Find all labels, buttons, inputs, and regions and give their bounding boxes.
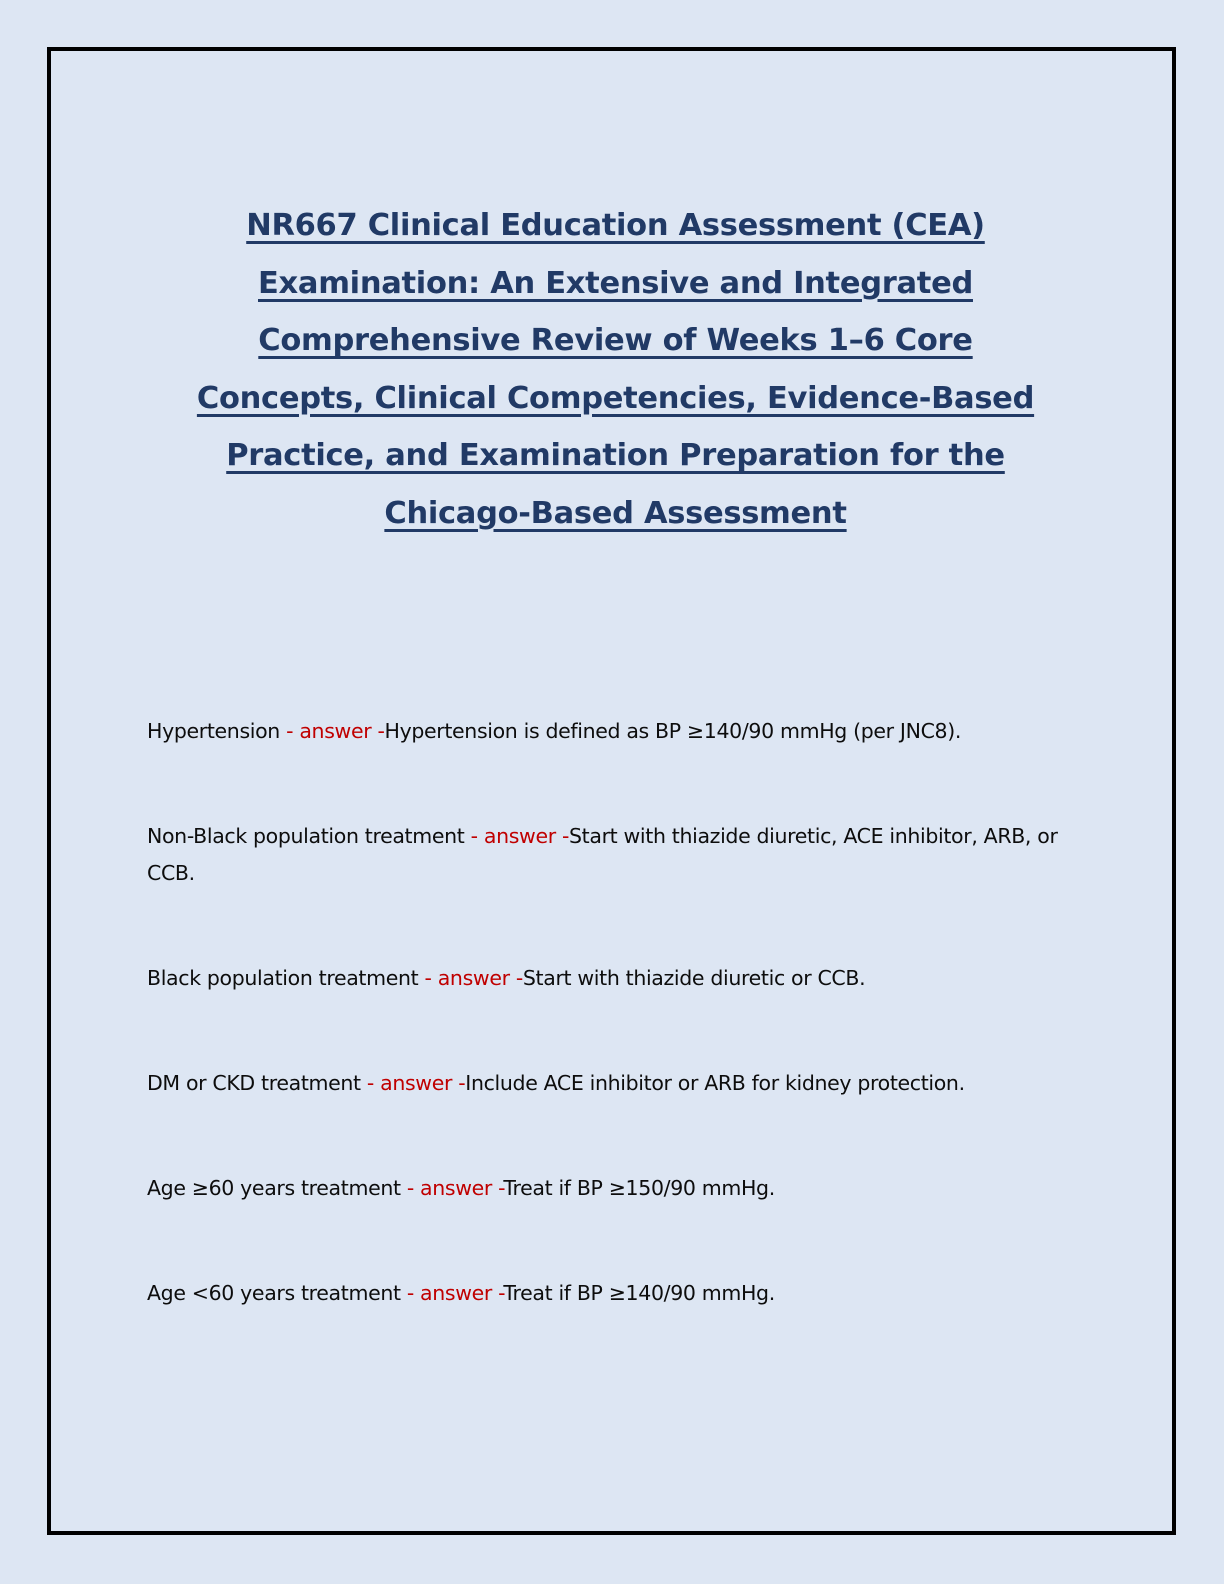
qa-answer-marker: - answer - <box>471 824 569 848</box>
title-line-5-text: Practice, and Examination Preparation fo… <box>226 438 1005 473</box>
title-line-6: Chicago-Based Assessment <box>118 485 1113 543</box>
qa-item: Black population treatment - answer -Sta… <box>147 960 1072 997</box>
document-content-area: NR667 Clinical Education Assessment (CEA… <box>51 51 1172 1531</box>
qa-question: Age ≥60 years treatment <box>147 1176 407 1200</box>
qa-item: DM or CKD treatment - answer -Include AC… <box>147 1065 1072 1102</box>
qa-answer-marker: - answer - <box>367 1071 465 1095</box>
qa-item: Age ≥60 years treatment - answer -Treat … <box>147 1170 1072 1207</box>
qa-answer-marker: - answer - <box>407 1176 504 1200</box>
qa-answer-marker: - answer - <box>425 966 523 990</box>
qa-item: Hypertension - answer -Hypertension is d… <box>147 713 1072 750</box>
document-border-frame: NR667 Clinical Education Assessment (CEA… <box>47 47 1176 1535</box>
title-line-3: Comprehensive Review of Weeks 1–6 Core <box>118 312 1113 370</box>
qa-question: Black population treatment <box>147 966 425 990</box>
qa-item: Age <60 years treatment - answer -Treat … <box>147 1275 1072 1312</box>
qa-answer: Include ACE inhibitor or ARB for kidney … <box>465 1071 964 1095</box>
title-line-4: Concepts, Clinical Competencies, Evidenc… <box>118 370 1113 428</box>
document-title: NR667 Clinical Education Assessment (CEA… <box>118 197 1113 542</box>
qa-question: DM or CKD treatment <box>147 1071 367 1095</box>
title-line-1-text: NR667 Clinical Education Assessment (CEA… <box>246 208 985 243</box>
qa-question: Hypertension <box>147 719 286 743</box>
title-line-4-text: Concepts, Clinical Competencies, Evidenc… <box>197 381 1034 416</box>
title-line-2-text: Examination: An Extensive and Integrated <box>258 266 973 301</box>
qa-answer-marker: - answer - <box>407 1281 504 1305</box>
title-line-1: NR667 Clinical Education Assessment (CEA… <box>118 197 1113 255</box>
title-line-3-text: Comprehensive Review of Weeks 1–6 Core <box>258 323 972 358</box>
qa-list: Hypertension - answer -Hypertension is d… <box>147 713 1072 1312</box>
title-line-2: Examination: An Extensive and Integrated <box>118 255 1113 313</box>
title-line-5: Practice, and Examination Preparation fo… <box>118 427 1113 485</box>
qa-answer-marker: - answer - <box>286 719 384 743</box>
qa-answer: Treat if BP ≥150/90 mmHg. <box>503 1176 775 1200</box>
qa-item: Non-Black population treatment - answer … <box>147 818 1072 892</box>
qa-question: Non-Black population treatment <box>147 824 471 848</box>
qa-answer: Treat if BP ≥140/90 mmHg. <box>503 1281 775 1305</box>
qa-question: Age <60 years treatment <box>147 1281 407 1305</box>
document-page: NR667 Clinical Education Assessment (CEA… <box>0 0 1224 1584</box>
qa-answer: Hypertension is defined as BP ≥140/90 mm… <box>385 719 962 743</box>
title-line-6-text: Chicago-Based Assessment <box>384 496 846 531</box>
qa-answer: Start with thiazide diuretic or CCB. <box>523 966 865 990</box>
